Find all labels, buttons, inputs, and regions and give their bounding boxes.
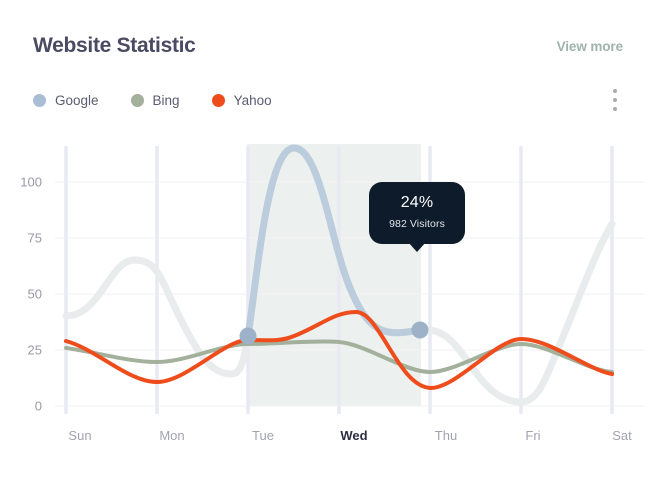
data-point-marker-tue[interactable] xyxy=(240,328,257,345)
kebab-dot xyxy=(613,98,618,103)
legend-dot-icon xyxy=(212,94,225,107)
x-tick-label-mon[interactable]: Mon xyxy=(159,428,184,443)
vertical-gridlines xyxy=(66,146,612,414)
x-tick-label-sat[interactable]: Sat xyxy=(612,428,632,443)
x-tick-label-tue[interactable]: Tue xyxy=(252,428,274,443)
legend-dot-icon xyxy=(33,94,46,107)
page-title: Website Statistic xyxy=(33,34,196,58)
kebab-menu-icon[interactable] xyxy=(604,86,626,114)
x-axis: Sun Mon Tue Wed Thu Fri Sat xyxy=(0,428,656,452)
card-header: Website Statistic View more xyxy=(0,26,656,66)
tooltip-subtitle: 982 Visitors xyxy=(379,219,455,231)
x-tick-label-fri[interactable]: Fri xyxy=(525,428,540,443)
x-tick-label-wed[interactable]: Wed xyxy=(340,428,367,443)
kebab-dot xyxy=(613,89,618,94)
x-tick-label-thu[interactable]: Thu xyxy=(435,428,457,443)
chart-plot-area[interactable] xyxy=(0,130,656,420)
view-more-link[interactable]: View more xyxy=(557,39,623,54)
chart-legend: Google Bing Yahoo xyxy=(0,86,656,114)
legend-label-google: Google xyxy=(55,93,99,108)
x-tick-label-sun[interactable]: Sun xyxy=(68,428,91,443)
line-chart-svg xyxy=(0,130,656,420)
tooltip-arrow-icon xyxy=(408,242,426,252)
tooltip-value: 24% xyxy=(379,194,455,212)
kebab-dot xyxy=(613,107,618,112)
website-statistic-card: Website Statistic View more Google Bing … xyxy=(0,0,656,477)
legend-label-yahoo: Yahoo xyxy=(234,93,272,108)
legend-item-bing[interactable]: Bing xyxy=(131,93,180,108)
legend-dot-icon xyxy=(131,94,144,107)
legend-label-bing: Bing xyxy=(153,93,180,108)
data-point-marker-selected[interactable] xyxy=(412,322,429,339)
legend-item-yahoo[interactable]: Yahoo xyxy=(212,93,272,108)
legend-item-google[interactable]: Google xyxy=(33,93,99,108)
chart-tooltip: 24% 982 Visitors xyxy=(369,182,465,244)
